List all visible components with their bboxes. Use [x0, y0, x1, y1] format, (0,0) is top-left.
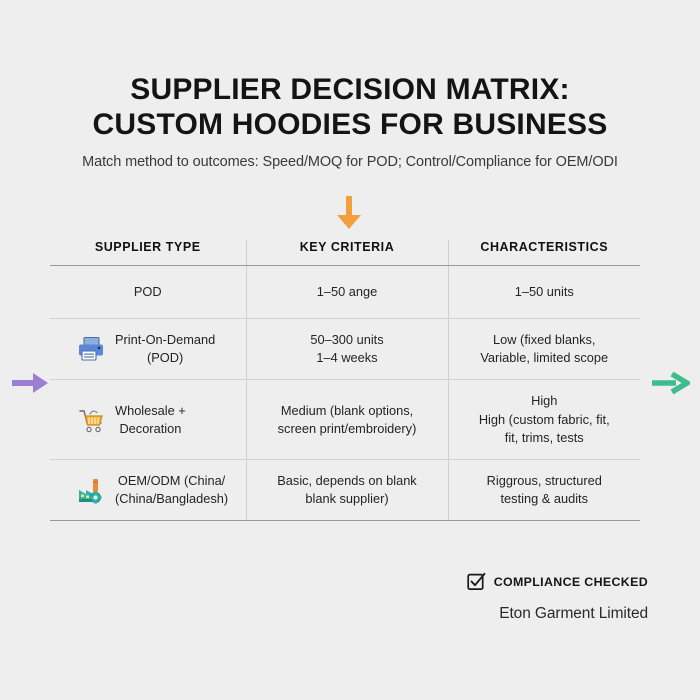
printer-icon: [76, 334, 106, 364]
checkbox-checked-icon: [467, 572, 486, 591]
title-line-2: CUSTOM HOODIES FOR BUSINESS: [0, 107, 700, 142]
supplier-label: Wholesale + Decoration: [115, 402, 186, 438]
supplier-line: POD: [60, 283, 236, 301]
compliance-label: COMPLIANCE CHECKED: [494, 575, 648, 589]
table-row: Wholesale + Decoration Medium (blank opt…: [50, 380, 640, 459]
supplier-line: (POD): [115, 349, 215, 367]
cell-supplier-type: Print-On-Demand (POD): [50, 319, 246, 380]
cell-characteristics: Riggrous, structured testing & audits: [448, 459, 640, 520]
footer: COMPLIANCE CHECKED Eton Garment Limited: [328, 572, 648, 623]
cell-supplier-type: POD: [50, 266, 246, 319]
cell-characteristics: Low (fixed blanks, Variable, limited sco…: [448, 319, 640, 380]
criteria-line: 1–50 ange: [257, 283, 438, 301]
down-arrow-icon: [332, 196, 366, 232]
supplier-line: Wholesale +: [115, 402, 186, 420]
characteristics-line: High: [459, 392, 631, 410]
characteristics-line: Low (fixed blanks,: [459, 331, 631, 349]
supplier-line: OEM/ODM (China/: [115, 472, 228, 490]
supplier-label: POD: [60, 283, 236, 301]
cell-supplier-type: Wholesale + Decoration: [50, 380, 246, 459]
cell-key-criteria: Medium (blank options, screen print/embr…: [246, 380, 448, 459]
shopping-cart-icon: [76, 405, 106, 435]
characteristics-line: 1–50 units: [459, 283, 631, 301]
cell-supplier-type: OEM/ODM (China/ (China/Bangladesh): [50, 459, 246, 520]
characteristics-line: fit, trims, tests: [459, 429, 631, 447]
column-header-characteristics: CHARACTERISTICS: [448, 240, 640, 266]
brand-name: Eton Garment Limited: [328, 605, 648, 623]
left-accent-arrow-icon: [10, 370, 50, 396]
compliance-badge: COMPLIANCE CHECKED: [328, 572, 648, 591]
criteria-line: 1–4 weeks: [257, 349, 438, 367]
characteristics-line: Riggrous, structured: [459, 472, 631, 490]
table-row: POD 1–50 ange 1–50 units: [50, 266, 640, 319]
cell-characteristics: 1–50 units: [448, 266, 640, 319]
right-accent-arrow-icon: [650, 370, 690, 396]
criteria-line: blank supplier): [257, 490, 438, 508]
criteria-line: screen print/embroidery): [257, 420, 438, 438]
supplier-label: OEM/ODM (China/ (China/Bangladesh): [115, 472, 228, 508]
supplier-line: Decoration: [115, 420, 186, 438]
title-line-1: SUPPLIER DECISION MATRIX:: [0, 72, 700, 107]
matrix-table: SUPPLIER TYPE KEY CRITERIA CHARACTERISTI…: [50, 240, 640, 521]
cell-key-criteria: Basic, depends on blank blank supplier): [246, 459, 448, 520]
supplier-label: Print-On-Demand (POD): [115, 331, 215, 367]
characteristics-line: testing & audits: [459, 490, 631, 508]
infographic-canvas: SUPPLIER DECISION MATRIX: CUSTOM HOODIES…: [0, 0, 700, 700]
table-row: OEM/ODM (China/ (China/Bangladesh) Basic…: [50, 459, 640, 520]
factory-icon: [76, 475, 106, 505]
column-header-supplier-type: SUPPLIER TYPE: [50, 240, 246, 266]
table-header-row: SUPPLIER TYPE KEY CRITERIA CHARACTERISTI…: [50, 240, 640, 266]
characteristics-line: Variable, limited scope: [459, 349, 631, 367]
cell-key-criteria: 1–50 ange: [246, 266, 448, 319]
criteria-line: Medium (blank options,: [257, 402, 438, 420]
cell-key-criteria: 50–300 units 1–4 weeks: [246, 319, 448, 380]
cell-characteristics: High High (custom fabric, fit, fit, trim…: [448, 380, 640, 459]
subtitle: Match method to outcomes: Speed/MOQ for …: [0, 154, 700, 170]
supplier-line: (China/Bangladesh): [115, 490, 228, 508]
column-header-key-criteria: KEY CRITERIA: [246, 240, 448, 266]
criteria-line: 50–300 units: [257, 331, 438, 349]
table-row: Print-On-Demand (POD) 50–300 units 1–4 w…: [50, 319, 640, 380]
page-title: SUPPLIER DECISION MATRIX: CUSTOM HOODIES…: [0, 72, 700, 170]
characteristics-line: High (custom fabric, fit,: [459, 411, 631, 429]
criteria-line: Basic, depends on blank: [257, 472, 438, 490]
supplier-decision-matrix: SUPPLIER TYPE KEY CRITERIA CHARACTERISTI…: [50, 240, 640, 521]
supplier-line: Print-On-Demand: [115, 331, 215, 349]
